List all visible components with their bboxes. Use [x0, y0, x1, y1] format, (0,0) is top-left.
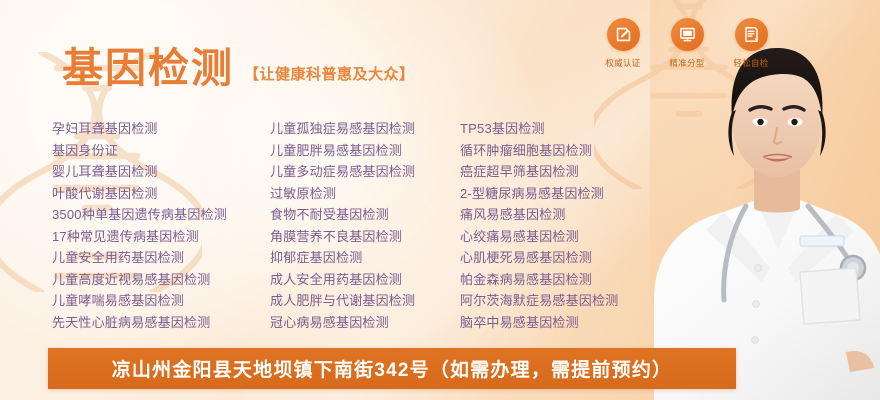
list-item[interactable]: 痛风易感基因检测: [460, 204, 712, 226]
list-item[interactable]: 儿童孤独症易感基因检测: [270, 118, 460, 140]
list-item[interactable]: 基因身份证: [52, 140, 270, 162]
badge-circle: [735, 18, 768, 51]
list-item[interactable]: 循环肿瘤细胞基因检测: [460, 140, 712, 162]
list-item[interactable]: 成人安全用药基因检测: [270, 269, 460, 291]
title-main-text: 基因检测: [62, 48, 234, 89]
badge-circle: [671, 18, 704, 51]
list-item[interactable]: 过敏原检测: [270, 183, 460, 205]
list-item[interactable]: 脑卒中易感基因检测: [460, 312, 712, 334]
monitor-screen-icon: [678, 25, 697, 44]
list-item[interactable]: 儿童肥胖易感基因检测: [270, 140, 460, 162]
list-item[interactable]: 叶酸代谢基因检测: [52, 183, 270, 205]
badge-circle: [607, 18, 640, 51]
list-item[interactable]: 癌症超早筛基因检测: [460, 161, 712, 183]
list-item[interactable]: 帕金森病易感基因检测: [460, 269, 712, 291]
list-item[interactable]: 角膜营养不良基因检测: [270, 226, 460, 248]
list-item[interactable]: 阿尔茨海默症易感基因检测: [460, 290, 712, 312]
list-item[interactable]: 抑郁症基因检测: [270, 247, 460, 269]
list-item[interactable]: 儿童哮喘易感基因检测: [52, 290, 270, 312]
badge-precise-typing[interactable]: 精准分型: [666, 18, 708, 69]
list-item[interactable]: 2-型糖尿病易感基因检测: [460, 183, 712, 205]
badge-label: 权威认证: [605, 57, 640, 69]
edit-pencil-icon: [614, 25, 633, 44]
list-item[interactable]: TP53基因检测: [460, 118, 712, 140]
list-item[interactable]: 先天性心脏病易感基因检测: [52, 312, 270, 334]
badge-easy-self-check[interactable]: 轻松自检: [730, 18, 772, 69]
list-column-2: 儿童孤独症易感基因检测 儿童肥胖易感基因检测 儿童多动症易感基因检测 过敏原检测…: [270, 118, 460, 333]
list-item[interactable]: 食物不耐受基因检测: [270, 204, 460, 226]
list-column-3: TP53基因检测 循环肿瘤细胞基因检测 癌症超早筛基因检测 2-型糖尿病易感基因…: [460, 118, 712, 333]
list-item[interactable]: 17种常见遗传病基因检测: [52, 226, 270, 248]
list-item[interactable]: 婴儿耳聋基因检测: [52, 161, 270, 183]
title-subtitle-text: 【让健康科普惠及大众】: [244, 63, 415, 89]
list-item[interactable]: 心绞痛易感基因检测: [460, 226, 712, 248]
list-item[interactable]: 3500种单基因遗传病基因检测: [52, 204, 270, 226]
list-item[interactable]: 儿童高度近视易感基因检测: [52, 269, 270, 291]
list-item[interactable]: 儿童安全用药基因检测: [52, 247, 270, 269]
list-column-1: 孕妇耳聋基因检测 基因身份证 婴儿耳聋基因检测 叶酸代谢基因检测 3500种单基…: [52, 118, 270, 333]
feature-badge-group: 权威认证 精准分型 轻松自检: [602, 18, 772, 69]
list-item[interactable]: 成人肥胖与代谢基因检测: [270, 290, 460, 312]
badge-authority-certification[interactable]: 权威认证: [602, 18, 644, 69]
list-item[interactable]: 孕妇耳聋基因检测: [52, 118, 270, 140]
list-item[interactable]: 心肌梗死易感基因检测: [460, 247, 712, 269]
document-report-icon: [742, 25, 761, 44]
list-item[interactable]: 儿童多动症易感基因检测: [270, 161, 460, 183]
list-item[interactable]: 冠心病易感基因检测: [270, 312, 460, 334]
badge-label: 精准分型: [669, 57, 704, 69]
badge-label: 轻松自检: [733, 57, 768, 69]
address-banner: 凉山州金阳县天地坝镇下南街342号（如需办理，需提前预约）: [48, 348, 736, 389]
address-banner-text: 凉山州金阳县天地坝镇下南街342号（如需办理，需提前预约）: [112, 355, 673, 382]
genetic-test-list: 孕妇耳聋基因检测 基因身份证 婴儿耳聋基因检测 叶酸代谢基因检测 3500种单基…: [52, 118, 712, 333]
page-title: 基因检测 【让健康科普惠及大众】: [62, 48, 415, 89]
